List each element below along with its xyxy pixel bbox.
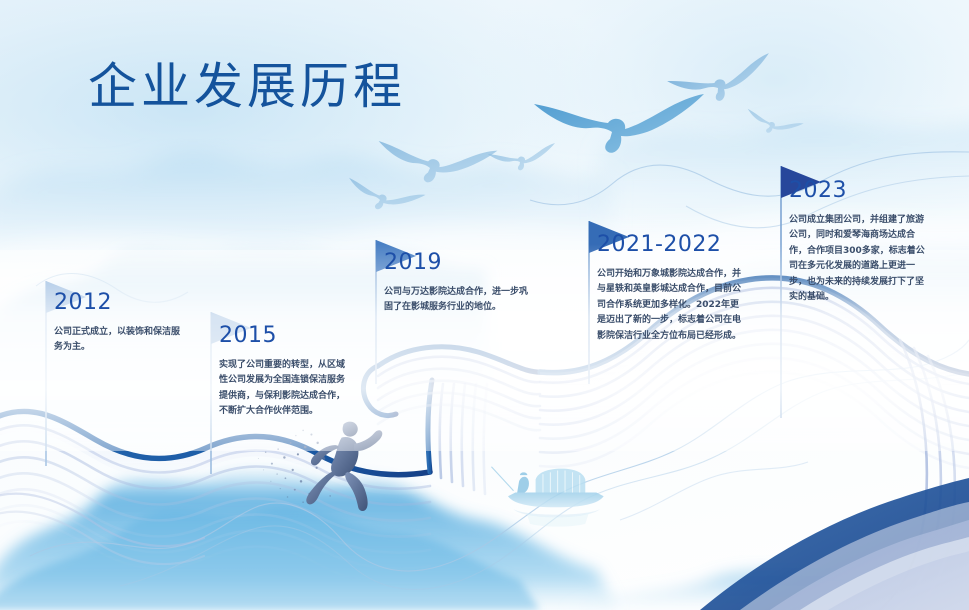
milestone-year-2019: 2019 xyxy=(384,252,536,274)
milestone-2012[interactable]: 2012 公司正式成立，以装饰和保洁服务为主。 xyxy=(54,292,186,356)
poster-canvas: 企业发展历程 2012 公司正式成立，以装饰和保洁服务为主。 2015 实现了公… xyxy=(0,0,969,610)
milestone-desc-2012: 公司正式成立，以装饰和保洁服务为主。 xyxy=(54,325,186,356)
milestone-2015[interactable]: 2015 实现了公司重要的转型，从区域性公司发展为全国连锁保洁服务提供商，与保利… xyxy=(219,325,351,420)
milestone-year-2023: 2023 xyxy=(789,180,929,202)
milestone-year-2012: 2012 xyxy=(54,292,186,314)
milestone-year-2021-2022: 2021-2022 xyxy=(597,234,741,256)
milestone-desc-2019: 公司与万达影院达成合作，进一步巩固了在影城服务行业的地位。 xyxy=(384,285,536,316)
milestone-desc-2021-2022: 公司开始和万象城影院达成合作，并与星轶和英皇影城达成合作，目前公司合作系统更加多… xyxy=(597,267,741,344)
page-title: 企业发展历程 xyxy=(88,62,406,111)
milestone-2021-2022[interactable]: 2021-2022 公司开始和万象城影院达成合作，并与星轶和英皇影城达成合作，目… xyxy=(597,234,741,344)
milestone-2023[interactable]: 2023 公司成立集团公司，并组建了旅游公司，同时和爱琴海商场达成合作，合作项目… xyxy=(789,180,929,306)
milestone-2019[interactable]: 2019 公司与万达影院达成合作，进一步巩固了在影城服务行业的地位。 xyxy=(384,252,536,316)
milestone-desc-2015: 实现了公司重要的转型，从区域性公司发展为全国连锁保洁服务提供商，与保利影院达成合… xyxy=(219,358,351,420)
milestone-year-2015: 2015 xyxy=(219,325,351,347)
milestone-desc-2023: 公司成立集团公司，并组建了旅游公司，同时和爱琴海商场达成合作，合作项目300多家… xyxy=(789,213,929,306)
